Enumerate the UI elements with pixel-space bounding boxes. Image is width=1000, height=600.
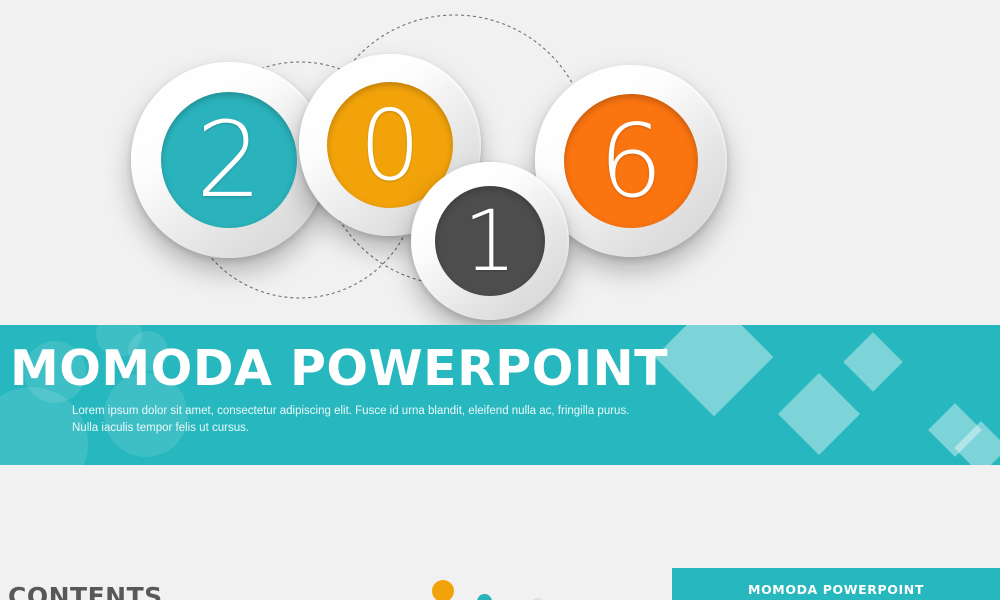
chart-dot-teal bbox=[477, 594, 492, 600]
year-badge-6-digit: 6 bbox=[599, 111, 663, 212]
bottom-section: CONTENTS MOMODA POWERPOINT bbox=[0, 465, 1000, 600]
year-badge-0-digit: 0 bbox=[359, 97, 421, 194]
diamond-decoration bbox=[778, 373, 860, 455]
banner-subtitle: Lorem ipsum dolor sit amet, consectetur … bbox=[72, 403, 632, 437]
year-badge-6-disc: 6 bbox=[564, 94, 698, 228]
promo-label: MOMODA POWERPOINT bbox=[672, 582, 1000, 597]
diamond-decoration bbox=[655, 325, 774, 416]
banner-title: MOMODA POWERPOINT bbox=[10, 340, 668, 397]
promo-panel[interactable]: MOMODA POWERPOINT bbox=[672, 568, 1000, 600]
diamond-decoration bbox=[843, 332, 902, 391]
chart-dot-orange bbox=[432, 580, 454, 600]
year-badge-1-disc: 1 bbox=[435, 186, 545, 296]
contents-panel[interactable]: CONTENTS bbox=[0, 568, 330, 600]
contents-title: CONTENTS bbox=[8, 582, 163, 600]
year-badge-1[interactable]: 1 bbox=[411, 162, 569, 320]
hero-section: 2 0 6 1 bbox=[0, 0, 1000, 325]
year-badge-2-digit: 2 bbox=[196, 108, 262, 212]
year-badge-1-digit: 1 bbox=[463, 199, 516, 283]
chart-panel[interactable] bbox=[334, 568, 668, 600]
year-badge-2-disc: 2 bbox=[161, 92, 297, 228]
title-banner: MOMODA POWERPOINT Lorem ipsum dolor sit … bbox=[0, 325, 1000, 465]
year-badge-2[interactable]: 2 bbox=[131, 62, 327, 258]
